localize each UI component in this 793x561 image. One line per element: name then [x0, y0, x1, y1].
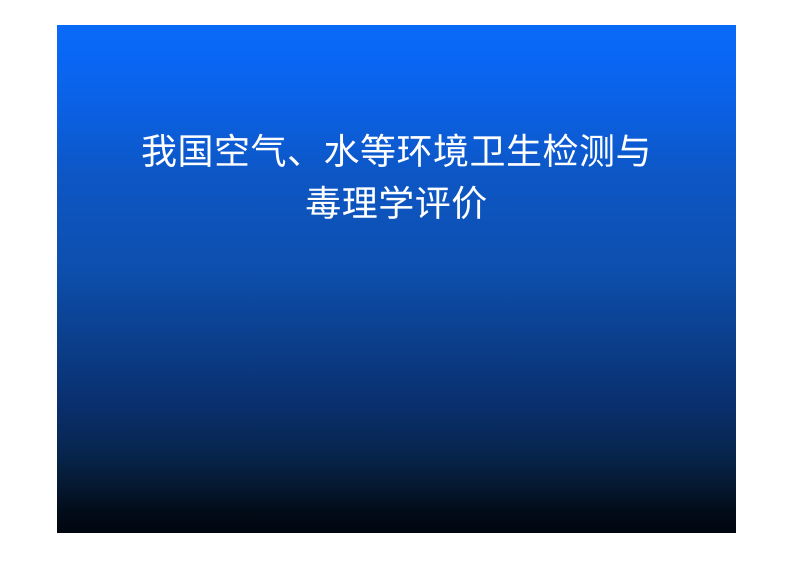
presentation-slide[interactable]: 我国空气、水等环境卫生检测与 毒理学评价 [57, 25, 736, 533]
slide-title-line-1: 我国空气、水等环境卫生检测与 [57, 126, 736, 178]
page-canvas: 我国空气、水等环境卫生检测与 毒理学评价 [0, 0, 793, 561]
slide-title-block: 我国空气、水等环境卫生检测与 毒理学评价 [57, 25, 736, 230]
slide-title-line-2: 毒理学评价 [57, 178, 736, 230]
